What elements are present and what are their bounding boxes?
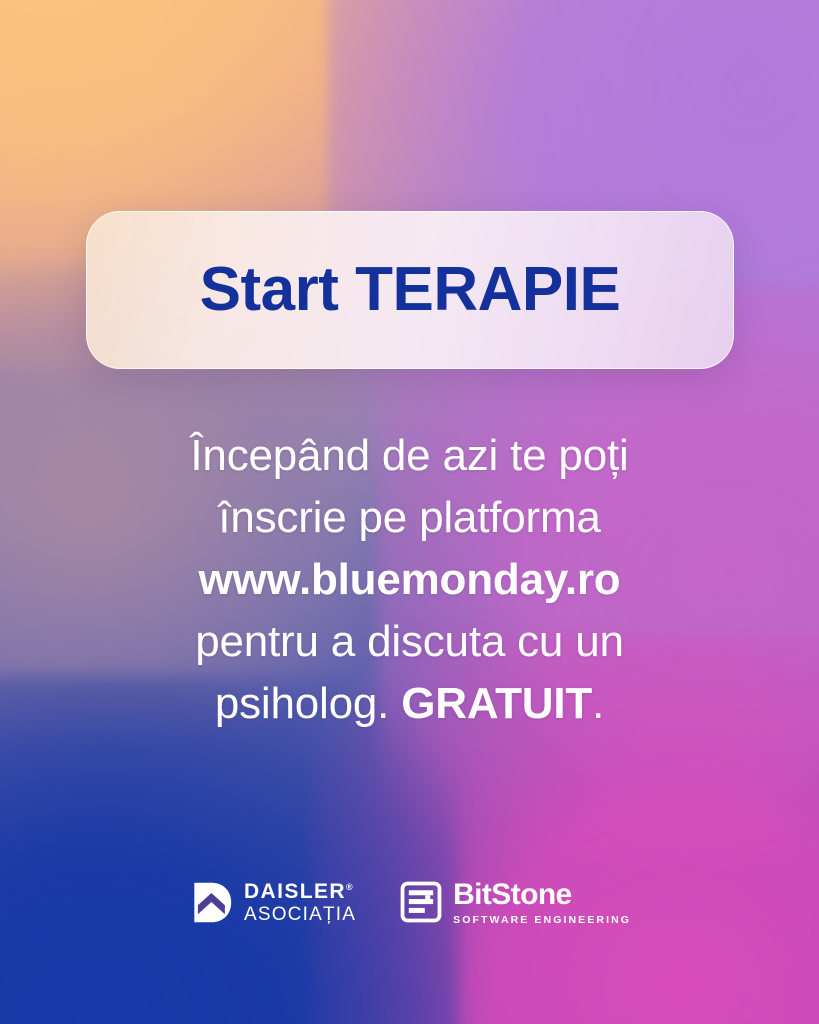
registered-mark-icon: ®: [346, 882, 354, 892]
bitstone-subtitle: SOFTWARE ENGINEERING: [453, 915, 631, 926]
daisler-name-text: DAISLER: [244, 880, 346, 903]
bitstone-square-bars-icon: [400, 881, 442, 923]
body-line-5: psiholog. GRATUIT.: [0, 673, 819, 735]
bitstone-wordmark: BitStone SOFTWARE ENGINEERING: [453, 880, 631, 926]
gratuit-emphasis: GRATUIT: [401, 679, 592, 728]
daisler-logo: DAISLER® ASOCIAȚIA: [188, 880, 356, 925]
page-title: Start TERAPIE: [200, 259, 621, 321]
body-line-2: înscrie pe platforma: [0, 487, 819, 549]
bitstone-logo: BitStone SOFTWARE ENGINEERING: [400, 880, 631, 926]
website-url: www.bluemonday.ro: [199, 555, 621, 604]
title-card: Start TERAPIE: [86, 211, 734, 369]
daisler-wordmark: DAISLER® ASOCIAȚIA: [244, 881, 356, 924]
daisler-d-mountain-icon: [188, 880, 233, 925]
footer-logos: DAISLER® ASOCIAȚIA BitStone SOFTWARE ENG…: [0, 880, 819, 926]
body-copy: Începând de azi te poți înscrie pe platf…: [0, 425, 819, 735]
bitstone-name: BitStone: [453, 880, 631, 910]
body-line-1: Începând de azi te poți: [0, 425, 819, 487]
body-line-5-suffix: .: [592, 679, 604, 728]
body-line-5-prefix: psiholog.: [215, 679, 401, 728]
poster-canvas: Start TERAPIE Începând de azi te poți în…: [0, 0, 819, 1024]
daisler-name: DAISLER®: [244, 881, 356, 902]
body-line-4: pentru a discuta cu un: [0, 611, 819, 673]
body-line-3: www.bluemonday.ro: [0, 549, 819, 611]
daisler-subtitle: ASOCIAȚIA: [244, 905, 356, 924]
